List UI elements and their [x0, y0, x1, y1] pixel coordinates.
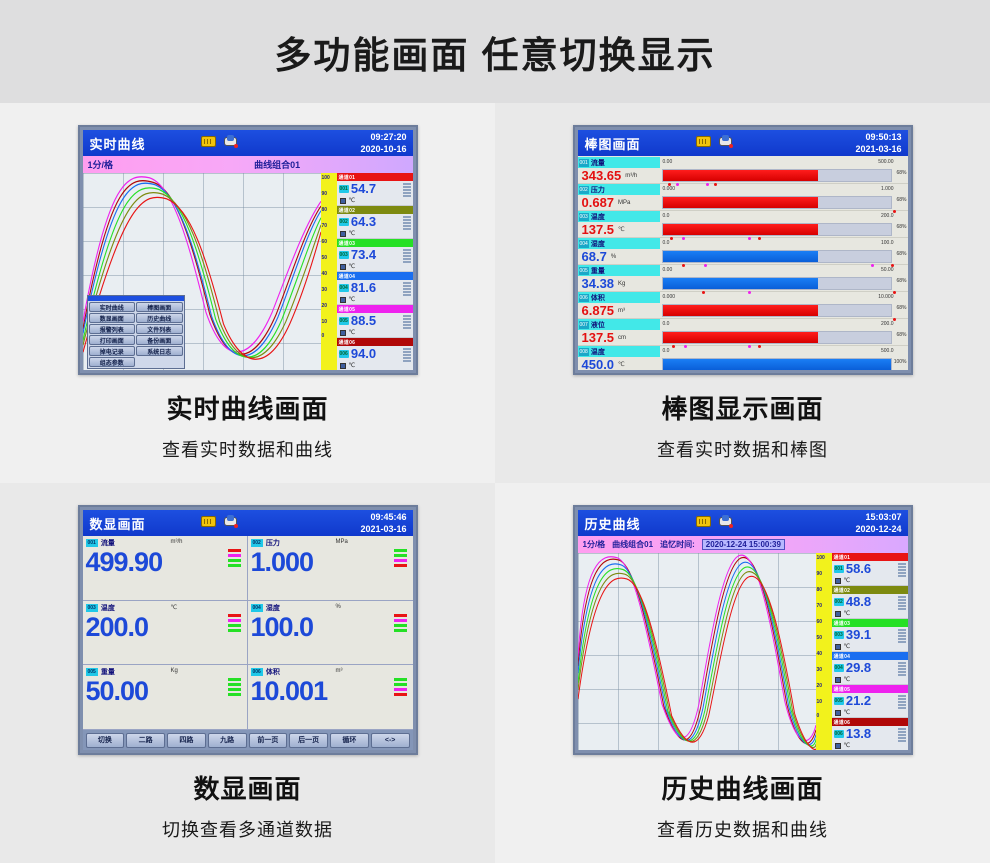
channel-unit: ℃ — [349, 296, 356, 303]
channel-unit: ℃ — [349, 362, 356, 369]
channel-marker-icon — [835, 611, 841, 617]
device-screen-digital[interactable]: 数显画面 09:45:46 2021-03-16 001流量 — [78, 505, 418, 755]
panel-caption-title: 棒图显示画面 — [661, 389, 823, 426]
y-tick: 20 — [817, 683, 823, 689]
channel-marker-icon — [340, 330, 346, 336]
titlebar-bargraph: 棒图画面 09:50:13 2021-03-16 — [578, 130, 908, 156]
menu-item-bargraph[interactable]: 棒图画面 — [136, 302, 183, 312]
recall-time-value[interactable]: 2020-12-24 15:00:39 — [702, 539, 785, 550]
chip-icon — [696, 136, 711, 147]
bar-max: 10.000 — [878, 294, 893, 300]
bar-number: 007 — [579, 321, 589, 329]
y-tick: 50 — [322, 255, 328, 261]
bar-value: 450.0 — [582, 357, 615, 370]
menu-item-alarm-list[interactable]: 报警列表 — [89, 324, 136, 334]
channel-value: 39.1 — [846, 627, 871, 642]
channel-marker-icon — [340, 363, 346, 369]
bar-unit: Kg — [618, 281, 625, 287]
clock-date: 2020-12-24 — [855, 524, 901, 534]
clock-date: 2020-10-16 — [360, 144, 406, 154]
bar-min: 0.00 — [663, 267, 673, 273]
y-tick: 80 — [817, 587, 823, 593]
disk-icon — [719, 515, 733, 528]
bar-value: 68.7 — [582, 249, 607, 264]
screen-title: 实时曲线 — [90, 134, 146, 153]
bar-fill — [663, 170, 818, 181]
y-tick: 0 — [817, 713, 820, 719]
bar-fill — [663, 251, 818, 262]
y-tick: 90 — [322, 191, 328, 197]
bar-unit: MPa — [618, 200, 630, 206]
time-scale-label: 1分/格 — [583, 539, 606, 550]
channel-row[interactable]: 通道02 00248.8 ℃ — [832, 586, 908, 619]
y-tick: 40 — [322, 271, 328, 277]
device-screen-bargraph[interactable]: 棒图画面 09:50:13 2021-03-16 — [573, 125, 913, 375]
channel-row[interactable]: 通道03 00373.4 ℃ — [337, 239, 413, 272]
page-title: 多功能画面 任意切换显示 — [274, 25, 715, 79]
bar-percent: 68% — [896, 251, 906, 257]
channel-tag: 通道03 — [339, 240, 356, 247]
channel-tag: 通道01 — [834, 554, 851, 561]
digital-value: 499.90 — [86, 547, 244, 578]
bar-value: 137.5 — [582, 330, 615, 345]
button-cycle[interactable]: 循环 — [330, 733, 369, 748]
recall-time-label: 追忆时间: — [660, 539, 695, 550]
channel-bars-icon — [403, 216, 411, 230]
bar-track — [662, 196, 892, 209]
chip-icon — [201, 516, 216, 527]
channel-marker-icon — [340, 264, 346, 270]
channel-unit: ℃ — [349, 263, 356, 270]
bar-percent: 68% — [896, 170, 906, 176]
menu-item-print[interactable]: 打印画面 — [89, 335, 136, 345]
panel-caption-sub: 切换查看多通道数据 — [162, 816, 333, 842]
bar-percent: 68% — [896, 305, 906, 311]
menu-item-system-log[interactable]: 系统日志 — [136, 346, 183, 356]
channel-tag: 通道03 — [834, 620, 851, 627]
channel-tag: 通道04 — [339, 273, 356, 280]
bar-number: 004 — [579, 240, 589, 248]
clock: 15:03:07 2020-12-24 — [855, 511, 901, 535]
button-switch[interactable]: 切换 — [86, 733, 125, 748]
bar-max: 500.0 — [881, 348, 894, 354]
bar-value: 343.65 — [582, 168, 622, 183]
bar-max: 200.0 — [881, 213, 894, 219]
channel-bars-icon — [403, 183, 411, 197]
bargraph-row[interactable]: 002压力 0.687MPa 0.0001.000 68% — [578, 184, 908, 211]
digital-unit: m³ — [336, 668, 343, 674]
panel-grid: 实时曲线 09:27:20 2020-10-16 1分/格 — [0, 103, 990, 863]
popup-menu-items: 实时曲线 棒图画面 数显画面 历史曲线 报警列表 文件列表 打印画面 备份画面 — [88, 301, 184, 368]
history-plot-area[interactable] — [578, 553, 816, 750]
menu-item-history-curve[interactable]: 历史曲线 — [136, 313, 183, 323]
channel-number: 001 — [339, 185, 349, 193]
clock-time: 09:50:13 — [865, 132, 901, 142]
channel-bars-icon — [898, 596, 906, 610]
bar-number: 008 — [579, 348, 589, 356]
y-axis-scale: 100 90 80 70 60 50 40 30 20 10 0 — [321, 173, 337, 370]
channel-tag: 通道05 — [339, 306, 356, 313]
channel-value: 94.0 — [351, 346, 376, 361]
bar-min: 0.0 — [663, 240, 670, 246]
bar-fill — [663, 197, 818, 208]
channel-value: 88.5 — [351, 313, 376, 328]
channel-bars-icon — [898, 662, 906, 676]
bar-percent: 100% — [894, 359, 907, 365]
channel-value: 58.6 — [846, 561, 871, 576]
bar-percent: 68% — [896, 332, 906, 338]
channel-tag: 通道04 — [834, 653, 851, 660]
bar-fill — [663, 359, 891, 370]
history-curve-lines — [578, 553, 816, 750]
bar-fill — [663, 332, 818, 343]
screen-title: 数显画面 — [90, 514, 146, 533]
bar-track — [662, 250, 892, 263]
clock-date: 2021-03-16 — [360, 524, 406, 534]
channel-bars-icon — [403, 348, 411, 362]
disk-icon — [224, 515, 238, 528]
bar-unit: % — [611, 254, 616, 260]
bar-min: 0.000 — [663, 186, 676, 192]
y-tick: 100 — [817, 555, 825, 561]
channel-number: 002 — [339, 218, 349, 226]
disk-icon — [719, 135, 733, 148]
bar-max: 200.0 — [881, 321, 894, 327]
panel-caption-title: 实时曲线画面 — [166, 389, 328, 426]
channel-tag: 通道01 — [339, 174, 356, 181]
digital-number: 004 — [251, 604, 263, 612]
y-tick: 100 — [322, 175, 330, 181]
bargraph-row[interactable]: 001流量 343.65m³/h 0.00500.00 68% — [578, 157, 908, 184]
digital-number: 001 — [86, 539, 98, 547]
channel-row[interactable]: 通道01 00154.7 ℃ — [337, 173, 413, 206]
page-root: 多功能画面 任意切换显示 实时曲线 09:27:20 2020-10-16 — [0, 0, 990, 863]
bar-number: 002 — [579, 186, 589, 194]
channel-marker-icon — [835, 710, 841, 716]
y-tick: 40 — [817, 651, 823, 657]
bar-fill — [663, 278, 818, 289]
button-next-page[interactable]: 后一页 — [289, 733, 328, 748]
y-tick: 10 — [322, 319, 328, 325]
channel-value: 13.8 — [846, 726, 871, 741]
channel-row[interactable]: 通道06 00694.0 ℃ — [337, 338, 413, 370]
bar-value: 34.38 — [582, 276, 615, 291]
channel-number: 001 — [834, 565, 844, 573]
channel-panel[interactable]: 通道01 00158.6 ℃ 通道02 00248.8 ℃ — [832, 553, 908, 750]
channel-panel[interactable]: 通道01 00154.7 ℃ 通道02 00264.3 ℃ — [337, 173, 413, 370]
bar-value: 6.875 — [582, 303, 615, 318]
bar-name: 温度 — [591, 347, 605, 357]
channel-number: 005 — [339, 317, 349, 325]
menu-item-file-list[interactable]: 文件列表 — [136, 324, 183, 334]
bar-max: 50.00 — [881, 267, 894, 273]
menu-item-realtime-curve[interactable]: 实时曲线 — [89, 302, 136, 312]
popup-menu[interactable]: 实时曲线 棒图画面 数显画面 历史曲线 报警列表 文件列表 打印画面 备份画面 — [87, 295, 185, 369]
bar-name: 液位 — [591, 320, 605, 330]
channel-row[interactable]: 通道06 00613.8 ℃ — [832, 718, 908, 750]
channel-row[interactable]: 通道05 00588.5 ℃ — [337, 305, 413, 338]
bar-track — [662, 223, 892, 236]
y-tick: 60 — [322, 239, 328, 245]
channel-value: 48.8 — [846, 594, 871, 609]
titlebar-realtime: 实时曲线 09:27:20 2020-10-16 — [83, 130, 413, 156]
bar-track — [662, 277, 892, 290]
channel-marker-icon — [835, 743, 841, 749]
channel-bars-icon — [403, 315, 411, 329]
y-tick: 30 — [322, 287, 328, 293]
channel-row[interactable]: 通道04 00481.6 ℃ — [337, 272, 413, 305]
level-indicator — [228, 614, 241, 632]
digital-cell[interactable]: 001流量 m³/h 499.90 — [83, 536, 248, 601]
y-tick: 50 — [817, 635, 823, 641]
bar-unit: ℃ — [618, 361, 625, 368]
bar-name: 温度 — [591, 212, 605, 222]
channel-bars-icon — [898, 629, 906, 643]
channel-number: 006 — [339, 350, 349, 358]
bargraph-row[interactable]: 005重量 34.38Kg 0.0050.00 68% — [578, 265, 908, 292]
clock: 09:27:20 2020-10-16 — [360, 131, 406, 155]
digital-number: 003 — [86, 604, 98, 612]
channel-bars-icon — [403, 282, 411, 296]
bar-name: 体积 — [591, 293, 605, 303]
bar-name: 压力 — [591, 185, 605, 195]
channel-unit: ℃ — [844, 577, 851, 584]
channel-marker-icon — [340, 198, 346, 204]
panel-caption-sub: 查看历史数据和曲线 — [657, 816, 828, 842]
bar-min: 0.0 — [663, 213, 670, 219]
level-indicator — [228, 678, 241, 696]
digital-value: 1.000 — [251, 547, 410, 578]
clock: 09:45:46 2021-03-16 — [360, 511, 406, 535]
chip-icon — [696, 516, 711, 527]
clock-time: 09:45:46 — [370, 512, 406, 522]
bar-fill — [663, 224, 818, 235]
bar-track — [662, 358, 892, 370]
button-9-channel[interactable]: 九路 — [208, 733, 247, 748]
titlebar-history: 历史曲线 15:03:07 2020-12-24 — [578, 510, 908, 536]
panel-caption-title: 数显画面 — [193, 769, 301, 806]
channel-tag: 通道05 — [834, 686, 851, 693]
bar-unit: ℃ — [618, 226, 625, 233]
digital-unit: MPa — [336, 539, 348, 545]
bar-name: 流量 — [591, 158, 605, 168]
channel-bars-icon — [898, 563, 906, 577]
channel-marker-icon — [835, 644, 841, 650]
y-tick: 70 — [817, 603, 823, 609]
curve-plot-area[interactable]: 实时曲线 棒图画面 数显画面 历史曲线 报警列表 文件列表 打印画面 备份画面 — [83, 173, 321, 370]
digital-value: 100.0 — [251, 612, 410, 643]
bargraph-row[interactable]: 008温度 450.0℃ 0.0500.0 100% — [578, 346, 908, 370]
menu-item-backup[interactable]: 备份画面 — [136, 335, 183, 345]
channel-number: 005 — [834, 697, 844, 705]
y-tick: 90 — [817, 571, 823, 577]
menu-item-digital[interactable]: 数显画面 — [89, 313, 136, 323]
time-scale-label: 1分/格 — [88, 158, 114, 171]
digital-cell[interactable]: 002压力 MPa 1.000 — [248, 536, 413, 601]
curve-group-label: 曲线组合01 — [254, 158, 300, 171]
channel-number: 006 — [834, 730, 844, 738]
y-tick: 10 — [817, 699, 823, 705]
clock-time: 15:03:07 — [865, 512, 901, 522]
channel-unit: ℃ — [844, 742, 851, 749]
channel-row[interactable]: 通道05 00521.2 ℃ — [832, 685, 908, 718]
panel-caption-sub: 查看实时数据和曲线 — [162, 436, 333, 462]
y-tick: 60 — [817, 619, 823, 625]
bar-max: 100.0 — [881, 240, 894, 246]
bar-track — [662, 304, 892, 317]
digital-grid: 001流量 m³/h 499.90 002压力 MPa 1.000 — [83, 536, 413, 730]
titlebar-digital: 数显画面 09:45:46 2021-03-16 — [83, 510, 413, 536]
bar-number: 003 — [579, 213, 589, 221]
button-toggle[interactable]: <-> — [371, 733, 410, 748]
device-screen-realtime[interactable]: 实时曲线 09:27:20 2020-10-16 1分/格 — [78, 125, 418, 375]
digital-value: 200.0 — [86, 612, 244, 643]
channel-number: 003 — [339, 251, 349, 259]
button-prev-page[interactable]: 前一页 — [249, 733, 288, 748]
digital-number: 002 — [251, 539, 263, 547]
channel-value: 81.6 — [351, 280, 376, 295]
screen-title: 棒图画面 — [585, 134, 641, 153]
panel-realtime: 实时曲线 09:27:20 2020-10-16 1分/格 — [0, 103, 495, 483]
history-subbar: 1分/格 曲线组合01 追忆时间: 2020-12-24 15:00:39 — [578, 536, 908, 553]
channel-tag: 通道02 — [834, 587, 851, 594]
y-axis-scale: 100 90 80 70 60 50 40 30 20 10 0 — [816, 553, 832, 750]
level-indicator — [228, 549, 241, 567]
digital-cell[interactable]: 004湿度 % 100.0 — [248, 601, 413, 666]
bar-unit: m³/h — [625, 173, 637, 179]
bar-value: 137.5 — [582, 222, 615, 237]
digital-cell[interactable]: 005重量 Kg 50.00 — [83, 665, 248, 730]
channel-value: 54.7 — [351, 181, 376, 196]
menu-item-config[interactable]: 组态参数 — [89, 357, 136, 367]
page-header: 多功能画面 任意切换显示 — [0, 0, 990, 103]
bar-max: 500.00 — [878, 159, 893, 165]
panel-caption-title: 历史曲线画面 — [661, 769, 823, 806]
digital-number: 006 — [251, 668, 263, 676]
channel-tag: 通道02 — [339, 207, 356, 214]
bar-value: 0.687 — [582, 195, 615, 210]
button-bar[interactable]: 切换 二路 四路 九路 前一页 后一页 循环 <-> — [83, 730, 413, 750]
channel-value: 29.8 — [846, 660, 871, 675]
y-tick: 30 — [817, 667, 823, 673]
bar-min: 0.00 — [663, 159, 673, 165]
channel-unit: ℃ — [349, 230, 356, 237]
channel-bars-icon — [898, 695, 906, 709]
bar-unit: m³ — [618, 308, 625, 314]
screen-title: 历史曲线 — [585, 514, 641, 533]
clock: 09:50:13 2021-03-16 — [855, 131, 901, 155]
channel-unit: ℃ — [844, 676, 851, 683]
clock-time: 09:27:20 — [370, 132, 406, 142]
panel-bargraph: 棒图画面 09:50:13 2021-03-16 — [495, 103, 990, 483]
digital-cell[interactable]: 003温度 ℃ 200.0 — [83, 601, 248, 666]
digital-value: 50.00 — [86, 676, 244, 707]
bar-track — [662, 331, 892, 344]
button-4-channel[interactable]: 四路 — [167, 733, 206, 748]
channel-row[interactable]: 通道04 00429.8 ℃ — [832, 652, 908, 685]
bar-name: 重量 — [591, 266, 605, 276]
bar-fill — [663, 305, 818, 316]
panel-caption-sub: 查看实时数据和棒图 — [657, 436, 828, 462]
bar-name: 湿度 — [591, 239, 605, 249]
channel-unit: ℃ — [844, 643, 851, 650]
y-tick: 0 — [322, 333, 325, 339]
channel-number: 002 — [834, 598, 844, 606]
digital-unit: % — [336, 604, 341, 610]
y-tick: 20 — [322, 303, 328, 309]
bar-unit: cm — [618, 335, 626, 341]
channel-bars-icon — [403, 249, 411, 263]
digital-number: 005 — [86, 668, 98, 676]
channel-marker-icon — [340, 297, 346, 303]
digital-unit: m³/h — [171, 539, 183, 545]
channel-marker-icon — [835, 578, 841, 584]
channel-row[interactable]: 通道01 00158.6 ℃ — [832, 553, 908, 586]
bar-min: 0.000 — [663, 294, 676, 300]
bar-min: 0.0 — [663, 321, 670, 327]
bargraph-row[interactable]: 003温度 137.5℃ 0.0200.0 68% — [578, 211, 908, 238]
channel-marker-icon — [835, 677, 841, 683]
digital-value: 10.001 — [251, 676, 410, 707]
bar-percent: 68% — [896, 197, 906, 203]
bar-track — [662, 169, 892, 182]
channel-row[interactable]: 通道03 00339.1 ℃ — [832, 619, 908, 652]
chip-icon — [201, 136, 216, 147]
bar-percent: 68% — [896, 278, 906, 284]
bargraph-row[interactable]: 004湿度 68.7% 0.0100.0 68% — [578, 238, 908, 265]
level-indicator — [394, 614, 407, 632]
channel-unit: ℃ — [844, 709, 851, 716]
bar-number: 005 — [579, 267, 589, 275]
curve-group-label: 曲线组合01 — [612, 539, 653, 550]
bargraph-rows: 001流量 343.65m³/h 0.00500.00 68% — [578, 156, 908, 370]
channel-tag: 通道06 — [834, 719, 851, 726]
channel-value: 73.4 — [351, 247, 376, 262]
menu-item-empty — [136, 357, 183, 367]
bar-number: 006 — [579, 294, 589, 302]
digital-cell[interactable]: 006体积 m³ 10.001 — [248, 665, 413, 730]
panel-digital: 数显画面 09:45:46 2021-03-16 001流量 — [0, 483, 495, 863]
digital-unit: ℃ — [171, 604, 178, 611]
level-indicator — [394, 549, 407, 567]
channel-marker-icon — [340, 231, 346, 237]
channel-row[interactable]: 通道02 00264.3 ℃ — [337, 206, 413, 239]
channel-value: 21.2 — [846, 693, 871, 708]
channel-unit: ℃ — [349, 329, 356, 336]
channel-value: 64.3 — [351, 214, 376, 229]
y-tick: 80 — [322, 207, 328, 213]
menu-item-power-log[interactable]: 掉电记录 — [89, 346, 136, 356]
digital-unit: Kg — [171, 668, 178, 674]
bar-max: 1.000 — [881, 186, 894, 192]
curve-subbar: 1分/格 曲线组合01 — [83, 156, 413, 173]
bargraph-row[interactable]: 006体积 6.875m³ 0.00010.000 68% — [578, 292, 908, 319]
clock-date: 2021-03-16 — [855, 144, 901, 154]
panel-history: 历史曲线 15:03:07 2020-12-24 1分/格 — [495, 483, 990, 863]
bar-min: 0.0 — [663, 348, 670, 354]
channel-unit: ℃ — [844, 610, 851, 617]
channel-number: 004 — [339, 284, 349, 292]
channel-tag: 通道06 — [339, 339, 356, 346]
y-tick: 70 — [322, 223, 328, 229]
device-screen-history[interactable]: 历史曲线 15:03:07 2020-12-24 1分/格 — [573, 505, 913, 755]
bar-percent: 68% — [896, 224, 906, 230]
channel-number: 003 — [834, 631, 844, 639]
bargraph-row[interactable]: 007液位 137.5cm 0.0200.0 68% — [578, 319, 908, 346]
disk-icon — [224, 135, 238, 148]
channel-unit: ℃ — [349, 197, 356, 204]
button-2-channel[interactable]: 二路 — [126, 733, 165, 748]
